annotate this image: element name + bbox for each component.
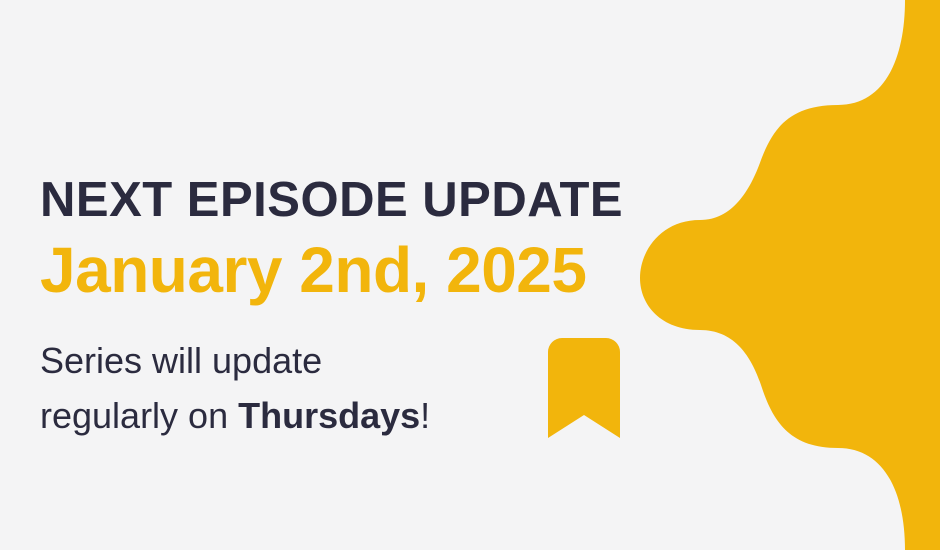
banner-content: NEXT EPISODE UPDATE January 2nd, 2025 Se… (40, 0, 700, 550)
schedule-note-day: Thursdays (238, 395, 420, 436)
schedule-note-prefix: regularly on (40, 395, 238, 436)
episode-date: January 2nd, 2025 (40, 238, 586, 302)
page-title: NEXT EPISODE UPDATE (40, 176, 623, 225)
schedule-note-line1: Series will update (40, 340, 322, 381)
bookmark-icon (548, 338, 620, 438)
schedule-note: Series will update regularly on Thursday… (40, 334, 510, 443)
announcement-banner: NEXT EPISODE UPDATE January 2nd, 2025 Se… (0, 0, 940, 550)
schedule-note-suffix: ! (420, 395, 430, 436)
